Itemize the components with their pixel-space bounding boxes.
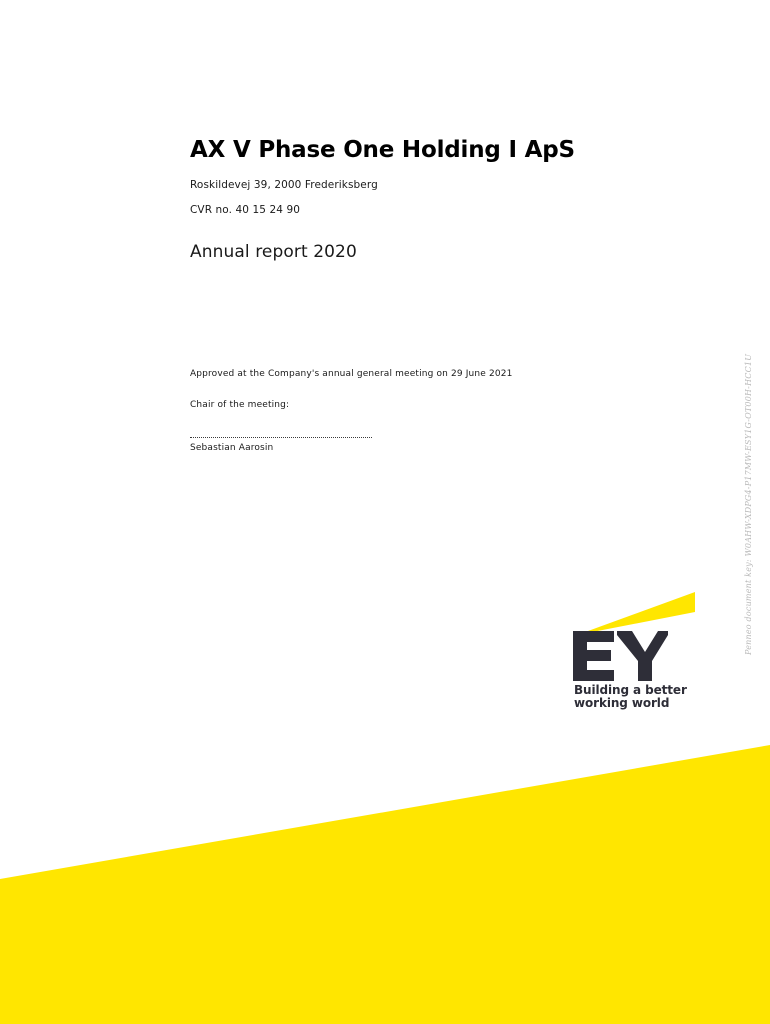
company-cvr-number: CVR no. 40 15 24 90 bbox=[190, 204, 660, 216]
report-title: Annual report 2020 bbox=[190, 242, 660, 262]
company-name-title: AX V Phase One Holding I ApS bbox=[190, 138, 660, 163]
ey-wordmark-icon bbox=[573, 631, 668, 681]
chair-of-meeting-label: Chair of the meeting: bbox=[190, 400, 660, 410]
signature-block: Sebastian Aarosin bbox=[190, 437, 372, 453]
ey-tagline-line-1: Building a better bbox=[574, 684, 687, 697]
yellow-diagonal-banner bbox=[0, 700, 770, 1024]
ey-beam-icon bbox=[577, 588, 695, 636]
approval-statement: Approved at the Company's annual general… bbox=[190, 369, 660, 379]
penneo-document-key-watermark: Penneo document key: W0AHW-XDPG4-P17MW-E… bbox=[744, 354, 758, 655]
cover-header-block: AX V Phase One Holding I ApS Roskildevej… bbox=[190, 138, 660, 262]
signature-line bbox=[190, 437, 372, 438]
signer-name: Sebastian Aarosin bbox=[190, 443, 372, 453]
company-address: Roskildevej 39, 2000 Frederiksberg bbox=[190, 179, 660, 191]
approval-block: Approved at the Company's annual general… bbox=[190, 369, 660, 410]
annual-report-cover-page: AX V Phase One Holding I ApS Roskildevej… bbox=[0, 0, 770, 1024]
